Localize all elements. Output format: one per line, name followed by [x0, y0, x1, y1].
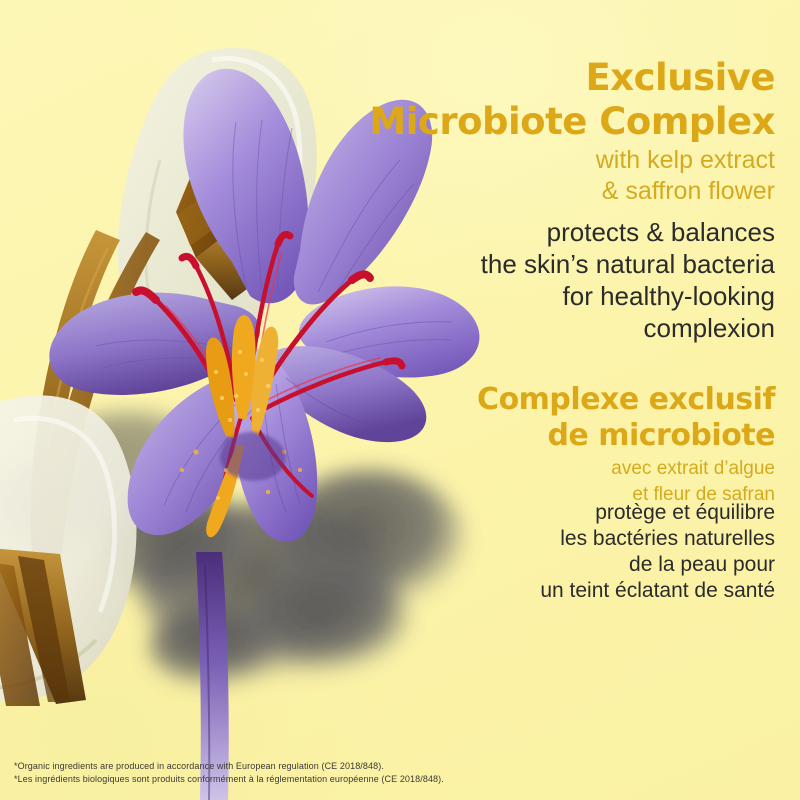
french-body-line-3: de la peau pour: [540, 552, 775, 578]
english-body-line-2: the skin’s natural bacteria: [481, 248, 775, 280]
french-heading-block: Complexe exclusif de microbiote avec ext…: [477, 382, 775, 506]
french-heading-line-2: de microbiote: [477, 418, 775, 454]
footnotes-block: *Organic ingredients are produced in acc…: [14, 760, 444, 786]
french-subheading-line-1: avec extrait d’algue: [477, 457, 775, 480]
english-body-line-4: complexion: [481, 312, 775, 344]
product-ingredient-poster: Exclusive Microbiote Complex with kelp e…: [0, 0, 800, 800]
footnote-french: *Les ingrédients biologiques sont produi…: [14, 773, 444, 786]
english-body-line-3: for healthy-looking: [481, 280, 775, 312]
english-body-line-1: protects & balances: [481, 216, 775, 248]
english-heading-block: Exclusive Microbiote Complex with kelp e…: [369, 56, 775, 206]
english-heading-line-1: Exclusive: [369, 56, 775, 100]
french-body-line-1: protège et équilibre: [540, 500, 775, 526]
footnote-english: *Organic ingredients are produced in acc…: [14, 760, 444, 773]
english-heading-line-2: Microbiote Complex: [369, 100, 775, 144]
english-subheading-line-1: with kelp extract: [369, 146, 775, 175]
french-body-line-2: les bactéries naturelles: [540, 526, 775, 552]
english-subheading-line-2: & saffron flower: [369, 177, 775, 206]
french-body-line-4: un teint éclatant de santé: [540, 578, 775, 604]
french-heading-line-1: Complexe exclusif: [477, 382, 775, 418]
french-body-block: protège et équilibre les bactéries natur…: [540, 500, 775, 604]
copy-block: Exclusive Microbiote Complex with kelp e…: [345, 0, 775, 800]
english-body-block: protects & balances the skin’s natural b…: [481, 216, 775, 344]
